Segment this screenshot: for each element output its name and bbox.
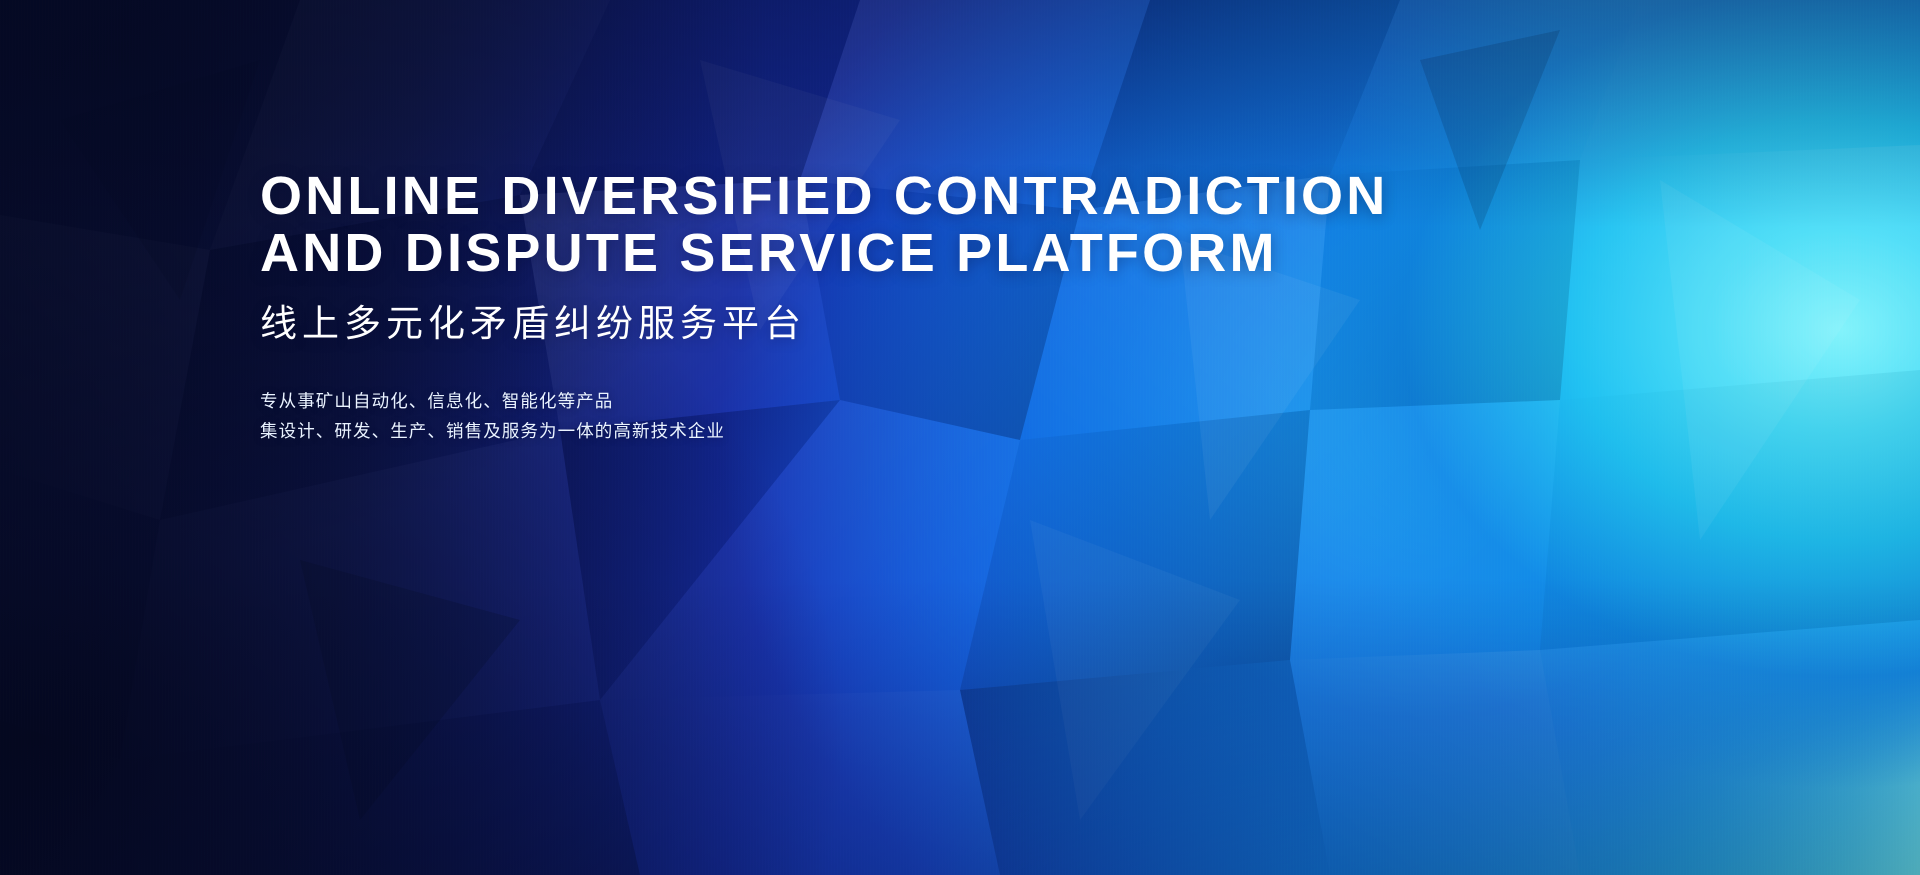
description-line: 集设计、研发、生产、销售及服务为一体的高新技术企业 xyxy=(260,416,1500,446)
banner-content: ONLINE DIVERSIFIED CONTRADICTION AND DIS… xyxy=(260,168,1500,446)
page-subtitle: 线上多元化矛盾纠纷服务平台 xyxy=(260,302,1500,346)
page-title: ONLINE DIVERSIFIED CONTRADICTION AND DIS… xyxy=(260,168,1500,282)
banner-description: 专从事矿山自动化、信息化、智能化等产品 集设计、研发、生产、销售及服务为一体的高… xyxy=(260,386,1500,446)
hero-banner: ONLINE DIVERSIFIED CONTRADICTION AND DIS… xyxy=(0,0,1920,875)
description-line: 专从事矿山自动化、信息化、智能化等产品 xyxy=(260,386,1500,416)
